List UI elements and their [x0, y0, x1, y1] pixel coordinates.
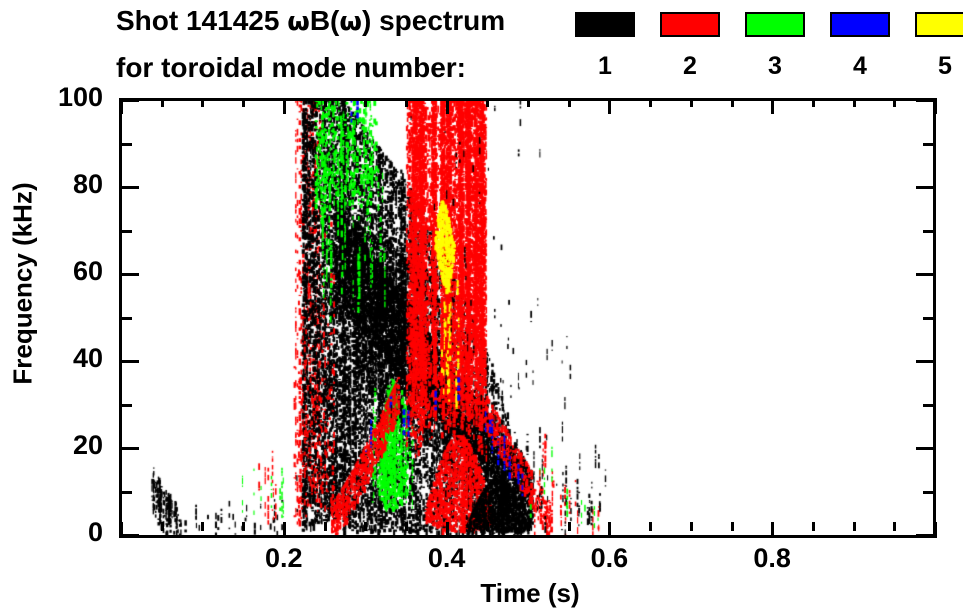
x-tick-top-0.6	[608, 98, 611, 114]
x-tick-0.4	[446, 522, 449, 538]
x-tick-0.5	[527, 522, 530, 531]
x-tick-top-0.35	[405, 98, 408, 107]
legend-swatch-mode-3	[745, 12, 805, 37]
x-tick-0.8	[771, 522, 774, 538]
x-tick-0.6	[608, 522, 611, 538]
figure-subtitle: for toroidal mode number:	[116, 52, 466, 84]
x-tick-0	[120, 522, 123, 538]
legend-label-mode-1: 1	[575, 52, 635, 81]
x-tick-1	[934, 522, 937, 538]
y-tick-60	[122, 273, 139, 276]
legend-item-1: 1	[575, 12, 639, 90]
x-tick-top-0.65	[649, 98, 652, 107]
x-tick-0.65	[649, 522, 652, 531]
title-prefix: Shot 141425	[116, 5, 287, 36]
y-tick-right-90	[923, 143, 933, 146]
x-tick-top-0.2	[283, 98, 286, 114]
x-tick-top-1	[934, 98, 937, 114]
legend-label-mode-3: 3	[745, 52, 805, 81]
x-tick-0.75	[731, 522, 734, 531]
legend-swatch-mode-5	[915, 12, 963, 37]
x-tick-top-0.85	[812, 98, 815, 107]
spectrogram-canvas	[121, 100, 935, 535]
omega-symbol-2: ω	[339, 7, 362, 37]
legend-item-4: 4	[830, 12, 894, 90]
legend-swatch-mode-2	[660, 12, 720, 37]
plot-data-area	[121, 100, 935, 535]
y-tick-label-100: 100	[3, 82, 103, 113]
x-tick-top-0.45	[486, 98, 489, 107]
y-tick-40	[122, 360, 139, 363]
x-tick-0.1	[201, 522, 204, 531]
x-tick-0.3	[364, 522, 367, 531]
axis-bottom-spine	[119, 535, 936, 538]
y-tick-right-0	[916, 534, 933, 537]
x-tick-0.85	[812, 522, 815, 531]
legend-item-3: 3	[745, 12, 809, 90]
legend-item-2: 2	[660, 12, 724, 90]
y-tick-right-50	[923, 317, 933, 320]
x-tick-top-0.5	[527, 98, 530, 107]
x-axis-title: Time (s)	[400, 578, 660, 609]
legend-label-mode-2: 2	[660, 52, 720, 81]
x-tick-0.15	[242, 522, 245, 531]
y-tick-right-70	[923, 230, 933, 233]
x-tick-label-0.4: 0.4	[387, 543, 507, 574]
x-tick-top-0.3	[364, 98, 367, 107]
title-suffix: ) spectrum	[362, 5, 505, 36]
x-tick-top-0.05	[161, 98, 164, 107]
x-tick-label-0.8: 0.8	[712, 543, 832, 574]
legend-label-mode-5: 5	[915, 52, 963, 81]
x-tick-0.9	[853, 522, 856, 531]
y-tick-90	[122, 143, 132, 146]
title-mid: B(	[310, 5, 340, 36]
x-tick-0.25	[324, 522, 327, 531]
omega-symbol-1: ω	[287, 7, 310, 37]
x-tick-0.95	[893, 522, 896, 531]
y-axis-title: Frequency (kHz)	[8, 119, 39, 449]
legend-swatch-mode-4	[830, 12, 890, 37]
legend-label-mode-4: 4	[830, 52, 890, 81]
legend-item-5: 5	[915, 12, 963, 90]
y-tick-100	[122, 99, 139, 102]
y-tick-30	[122, 404, 132, 407]
axis-right-spine	[933, 100, 936, 538]
x-tick-top-0.95	[893, 98, 896, 107]
y-tick-right-100	[916, 99, 933, 102]
x-tick-0.35	[405, 522, 408, 531]
x-tick-top-0.8	[771, 98, 774, 114]
y-tick-right-20	[916, 447, 933, 450]
x-tick-0.7	[690, 522, 693, 531]
x-tick-label-0.2: 0.2	[224, 543, 344, 574]
y-tick-0	[122, 534, 139, 537]
legend: 1 2 3 4 5	[575, 12, 955, 90]
x-tick-top-0.15	[242, 98, 245, 107]
y-tick-right-40	[916, 360, 933, 363]
x-tick-top-0.55	[568, 98, 571, 107]
spectrogram-figure: Shot 141425 ωB(ω) spectrum for toroidal …	[0, 0, 963, 615]
x-tick-top-0.4	[446, 98, 449, 114]
x-tick-top-0.25	[324, 98, 327, 107]
legend-swatch-mode-1	[575, 12, 635, 37]
y-tick-right-30	[923, 404, 933, 407]
y-tick-right-10	[923, 491, 933, 494]
y-tick-10	[122, 491, 132, 494]
y-tick-label-0: 0	[3, 517, 103, 548]
figure-title: Shot 141425 ωB(ω) spectrum	[116, 5, 505, 37]
y-tick-70	[122, 230, 132, 233]
x-tick-label-0.6: 0.6	[549, 543, 669, 574]
x-tick-0.05	[161, 522, 164, 531]
y-tick-right-60	[916, 273, 933, 276]
y-tick-80	[122, 186, 139, 189]
x-tick-top-0.1	[201, 98, 204, 107]
x-tick-0.2	[283, 522, 286, 538]
x-tick-top-0.75	[731, 98, 734, 107]
y-tick-20	[122, 447, 139, 450]
x-tick-0.45	[486, 522, 489, 531]
x-tick-top-0	[120, 98, 123, 114]
x-tick-top-0.7	[690, 98, 693, 107]
y-tick-50	[122, 317, 132, 320]
y-tick-right-80	[916, 186, 933, 189]
x-tick-0.55	[568, 522, 571, 531]
x-tick-top-0.9	[853, 98, 856, 107]
